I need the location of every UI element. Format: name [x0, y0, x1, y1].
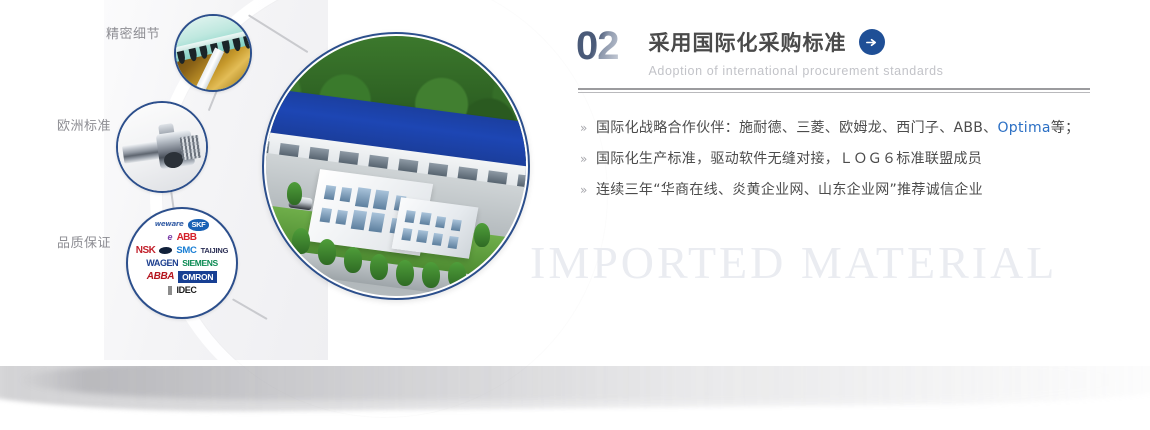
content-column: 02 采用国际化采购标准 Adoption of international p… [570, 0, 1110, 430]
landscape-tree [287, 182, 303, 205]
list-item: » 国际化生产标准，驱动软件无缝对接，ＬＯＧ６标准联盟成员 [580, 149, 1100, 169]
chevron-double-right-icon: » [580, 149, 596, 169]
landscape-tree [292, 228, 310, 254]
section-number: 02 [576, 26, 623, 66]
landscape-tree [422, 262, 440, 288]
landscape-tree [344, 247, 362, 273]
logo-idec: IDEC [177, 286, 197, 295]
ball-screw-threads [180, 135, 202, 160]
section-header: 02 采用国际化采购标准 Adoption of international p… [576, 26, 944, 78]
landscape-tree [396, 260, 414, 286]
logo-smc: SMC [176, 246, 196, 256]
smc-mark-icon [159, 247, 173, 254]
idec-bar-icon [168, 286, 172, 295]
ball-screw-photo[interactable] [116, 101, 208, 193]
header-divider [578, 88, 1090, 93]
promo-banner: 精密细节 欧洲标准 品质保证 weware SKF [0, 0, 1150, 430]
logo-siemens: SIEMENS [182, 259, 217, 268]
watermark-text: IMPORTED MATERIAL [530, 236, 1150, 289]
logo-abba: ABBA [147, 272, 174, 282]
list-item: » 国际化战略合作伙伴：施耐德、三菱、欧姆龙、西门子、ABB、Optima等； [580, 118, 1100, 138]
landscape-tree [318, 239, 336, 265]
bullet-text: 连续三年“华商在线、炎黄企业网、山东企业网”推荐诚信企业 [596, 180, 983, 200]
logo-nsk: NSK [136, 246, 156, 256]
office-building-wing [392, 198, 479, 259]
logo-wagen: WAGEN [146, 259, 178, 268]
logo-abb: ABB [177, 233, 197, 243]
logo-weware: weware [155, 221, 184, 228]
page-subtitle: Adoption of international procurement st… [649, 64, 944, 78]
chevron-double-right-icon: » [580, 118, 596, 138]
brand-logos-collage[interactable]: weware SKF e ABB NSK SMC TAIJING WAGEN S… [126, 207, 238, 319]
landscape-tree [474, 223, 490, 246]
logo-skf: SKF [188, 219, 210, 231]
bullet-text: 国际化生产标准，驱动软件无缝对接，ＬＯＧ６标准联盟成员 [596, 149, 982, 169]
logo-omron: OMRON [178, 271, 217, 284]
list-item: » 连续三年“华商在线、炎黄企业网、山东企业网”推荐诚信企业 [580, 180, 1100, 200]
arrow-right-icon[interactable] [859, 29, 885, 55]
feature-label-precision: 精密细节 [106, 23, 160, 42]
bullet-highlight: Optima [997, 120, 1050, 136]
saw-blade-detail-photo[interactable] [174, 14, 252, 92]
feature-bullet-list: » 国际化战略合作伙伴：施耐德、三菱、欧姆龙、西门子、ABB、Optima等； … [580, 118, 1100, 211]
landscape-tree [448, 262, 466, 288]
bullet-text-lead: 国际化战略合作伙伴：施耐德、三菱、欧姆龙、西门子、ABB、 [596, 120, 997, 136]
feature-label-european-standard: 欧洲标准 [57, 115, 111, 134]
chevron-double-right-icon: » [580, 180, 596, 200]
landscape-tree [370, 254, 388, 280]
feature-label-quality-assurance: 品质保证 [57, 232, 111, 251]
page-title: 采用国际化采购标准 [649, 27, 847, 57]
bullet-text: 国际化战略合作伙伴：施耐德、三菱、欧姆龙、西门子、ABB、Optima等； [596, 118, 1079, 138]
logo-e-brand: e [168, 233, 173, 242]
factory-aerial-photo[interactable] [262, 32, 530, 300]
bullet-text-tail: 等； [1051, 120, 1080, 136]
logo-taijing: TAIJING [201, 247, 229, 255]
